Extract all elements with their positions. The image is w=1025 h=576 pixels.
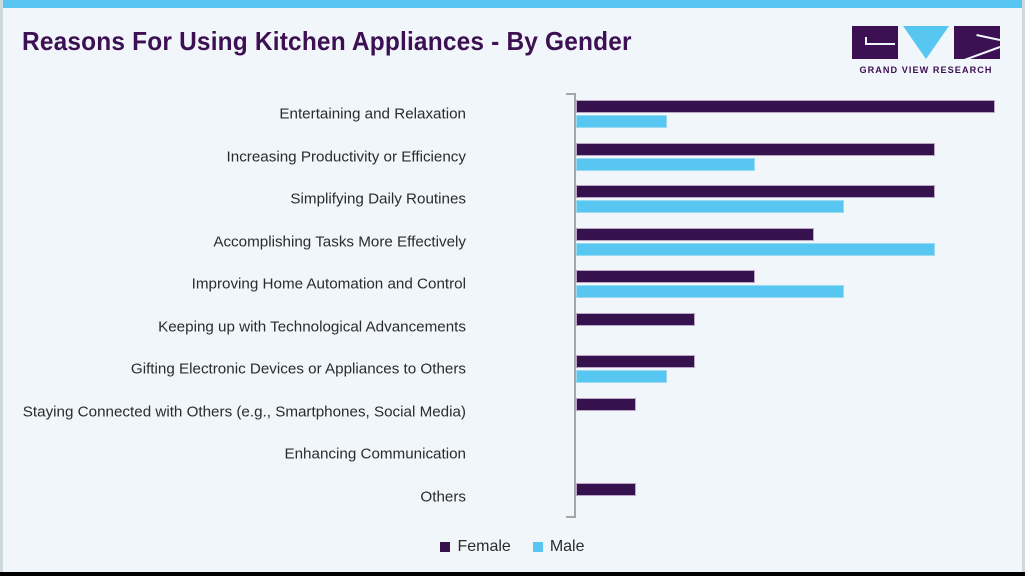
logo-square-r-icon	[954, 26, 1000, 59]
bar-female[interactable]	[576, 143, 935, 156]
chart-category-row: Accomplishing Tasks More Effectively	[0, 221, 1025, 264]
logo-wordmark: GRAND VIEW RESEARCH	[855, 65, 997, 76]
category-label: Entertaining and Relaxation	[279, 106, 466, 123]
bar-male[interactable]	[576, 243, 935, 256]
bar-male[interactable]	[576, 285, 844, 298]
bar-female[interactable]	[576, 355, 695, 368]
chart-rows: Entertaining and RelaxationIncreasing Pr…	[0, 93, 1025, 518]
bar-female[interactable]	[576, 313, 695, 326]
chart-category-row: Gifting Electronic Devices or Appliances…	[0, 348, 1025, 391]
bar-male[interactable]	[576, 158, 755, 171]
bar-group	[576, 99, 1016, 129]
bar-female[interactable]	[576, 483, 636, 496]
chart-slide: Reasons For Using Kitchen Appliances - B…	[0, 0, 1025, 576]
chart-category-row: Staying Connected with Others (e.g., Sma…	[0, 391, 1025, 434]
chart-category-row: Improving Home Automation and Control	[0, 263, 1025, 306]
bar-male[interactable]	[576, 200, 844, 213]
bar-group	[576, 439, 1016, 469]
logo-marks	[852, 26, 1000, 59]
top-accent-bar	[0, 0, 1025, 8]
chart-legend: FemaleMale	[0, 538, 1025, 556]
bar-group	[576, 142, 1016, 172]
bar-female[interactable]	[576, 398, 636, 411]
category-label: Keeping up with Technological Advancemen…	[158, 318, 466, 335]
legend-item-male[interactable]: Male	[533, 538, 585, 556]
bar-group	[576, 397, 1016, 427]
bar-group	[576, 184, 1016, 214]
bar-male[interactable]	[576, 115, 667, 128]
bar-group	[576, 312, 1016, 342]
bottom-edge	[0, 572, 1025, 576]
legend-swatch-icon	[440, 542, 450, 552]
legend-label: Male	[550, 538, 585, 556]
category-label: Simplifying Daily Routines	[290, 191, 466, 208]
chart-plot-area: Entertaining and RelaxationIncreasing Pr…	[0, 90, 1025, 530]
bar-female[interactable]	[576, 228, 814, 241]
logo-triangle-icon	[903, 26, 949, 59]
category-label: Enhancing Communication	[284, 446, 466, 463]
bar-group	[576, 227, 1016, 257]
bar-female[interactable]	[576, 270, 755, 283]
brand-logo: GRAND VIEW RESEARCH	[852, 26, 1000, 76]
category-label: Accomplishing Tasks More Effectively	[213, 233, 466, 250]
page-title: Reasons For Using Kitchen Appliances - B…	[22, 26, 632, 57]
category-label: Staying Connected with Others (e.g., Sma…	[23, 403, 466, 420]
legend-swatch-icon	[533, 542, 543, 552]
bar-female[interactable]	[576, 185, 935, 198]
chart-category-row: Increasing Productivity or Efficiency	[0, 136, 1025, 179]
legend-label: Female	[457, 538, 510, 556]
bar-group	[576, 269, 1016, 299]
legend-item-female[interactable]: Female	[440, 538, 510, 556]
category-label: Improving Home Automation and Control	[192, 276, 466, 293]
logo-square-g-icon	[852, 26, 898, 59]
category-label: Increasing Productivity or Efficiency	[227, 148, 466, 165]
chart-category-row: Entertaining and Relaxation	[0, 93, 1025, 136]
bar-female[interactable]	[576, 100, 995, 113]
category-label: Others	[420, 488, 466, 505]
bar-male[interactable]	[576, 370, 667, 383]
bar-group	[576, 354, 1016, 384]
chart-category-row: Enhancing Communication	[0, 433, 1025, 476]
chart-category-row: Keeping up with Technological Advancemen…	[0, 306, 1025, 349]
chart-category-row: Simplifying Daily Routines	[0, 178, 1025, 221]
category-label: Gifting Electronic Devices or Appliances…	[131, 361, 466, 378]
bar-group	[576, 482, 1016, 512]
chart-category-row: Others	[0, 476, 1025, 519]
